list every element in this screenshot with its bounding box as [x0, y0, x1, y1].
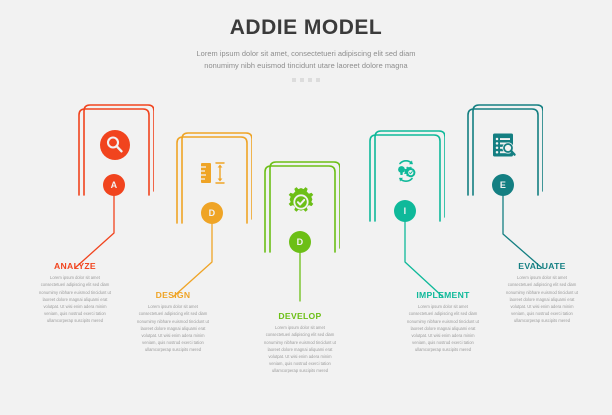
body-evaluate: Lorem ipsum dolor sit amet consectetueri…: [506, 274, 578, 323]
connector-implement: [405, 222, 443, 297]
textblock-develop: DEVELOP Lorem ipsum dolor sit amet conse…: [264, 312, 336, 374]
badge-design-label: D: [209, 208, 216, 218]
label-implement: IMPLEMENT: [407, 291, 479, 300]
badge-implement-label: I: [404, 206, 407, 216]
connector-design: [173, 224, 212, 297]
badge-develop: D: [289, 231, 311, 253]
badge-evaluate: E: [492, 174, 514, 196]
label-develop: DEVELOP: [264, 312, 336, 321]
badge-develop-label: D: [297, 237, 304, 247]
body-develop: Lorem ipsum dolor sit amet consectetueri…: [264, 324, 336, 373]
cycle-gear-icon: [386, 151, 426, 191]
connector-evaluate: [503, 196, 542, 268]
addie-model-infographic: ADDIE MODEL Lorem ipsum dolor sit amet, …: [0, 0, 612, 415]
stage-implement[interactable]: I: [365, 129, 445, 224]
badge-evaluate-label: E: [500, 180, 506, 190]
connector-analyze: [75, 196, 114, 268]
clipboard-search-icon: [484, 125, 524, 165]
stage-design[interactable]: D: [172, 131, 252, 226]
badge-analyze-label: A: [111, 180, 118, 190]
ruler-icon: [193, 153, 233, 193]
textblock-evaluate: EVALUATE Lorem ipsum dolor sit amet cons…: [506, 262, 578, 324]
textblock-implement: IMPLEMENT Lorem ipsum dolor sit amet con…: [407, 291, 479, 353]
stage-evaluate[interactable]: E: [463, 103, 543, 198]
magnifier-icon: [95, 125, 135, 165]
badge-analyze: A: [103, 174, 125, 196]
body-design: Lorem ipsum dolor sit amet consectetueri…: [137, 303, 209, 352]
stage-develop[interactable]: D: [260, 160, 340, 255]
badge-implement: I: [394, 200, 416, 222]
label-design: DESIGN: [137, 291, 209, 300]
label-evaluate: EVALUATE: [506, 262, 578, 271]
body-implement: Lorem ipsum dolor sit amet consectetueri…: [407, 303, 479, 352]
textblock-design: DESIGN Lorem ipsum dolor sit amet consec…: [137, 291, 209, 353]
badge-design: D: [201, 202, 223, 224]
gear-check-icon: [281, 182, 321, 222]
label-analyze: ANALYZE: [39, 262, 111, 271]
textblock-analyze: ANALYZE Lorem ipsum dolor sit amet conse…: [39, 262, 111, 324]
stage-analyze[interactable]: A: [74, 103, 154, 198]
body-analyze: Lorem ipsum dolor sit amet consectetueri…: [39, 274, 111, 323]
